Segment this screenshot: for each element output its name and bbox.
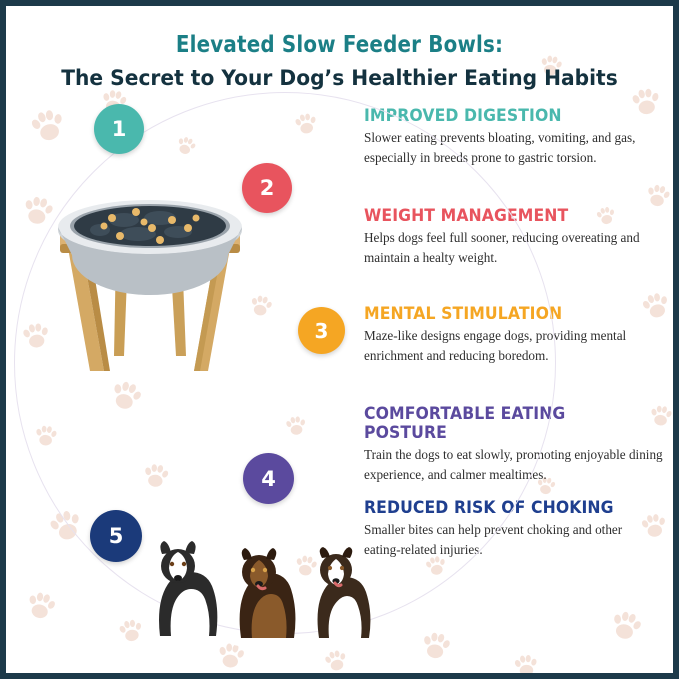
- dogs-photo: [126, 526, 396, 656]
- product-illustration: [20, 156, 280, 416]
- page-title-secondary: The Secret to Your Dog’s Healthier Eatin…: [26, 66, 653, 91]
- step-bubble-5: 5: [90, 510, 142, 562]
- step-number-4: 4: [261, 467, 276, 491]
- step-number-5: 5: [109, 524, 124, 548]
- step-bubble-2: 2: [242, 163, 292, 213]
- step-bubble-1: 1: [94, 104, 144, 154]
- step-number-3: 3: [315, 319, 329, 343]
- step-bubble-3: 3: [298, 307, 345, 354]
- infographic-page: Elevated Slow Feeder Bowls: The Secret t…: [0, 0, 679, 679]
- step-number-1: 1: [112, 117, 127, 141]
- step-bubble-4: 4: [243, 453, 294, 504]
- step-number-2: 2: [260, 176, 275, 200]
- three-dogs-icon: [126, 526, 396, 656]
- page-title-primary: Elevated Slow Feeder Bowls:: [26, 30, 653, 58]
- elevated-bowl-icon: [20, 156, 280, 416]
